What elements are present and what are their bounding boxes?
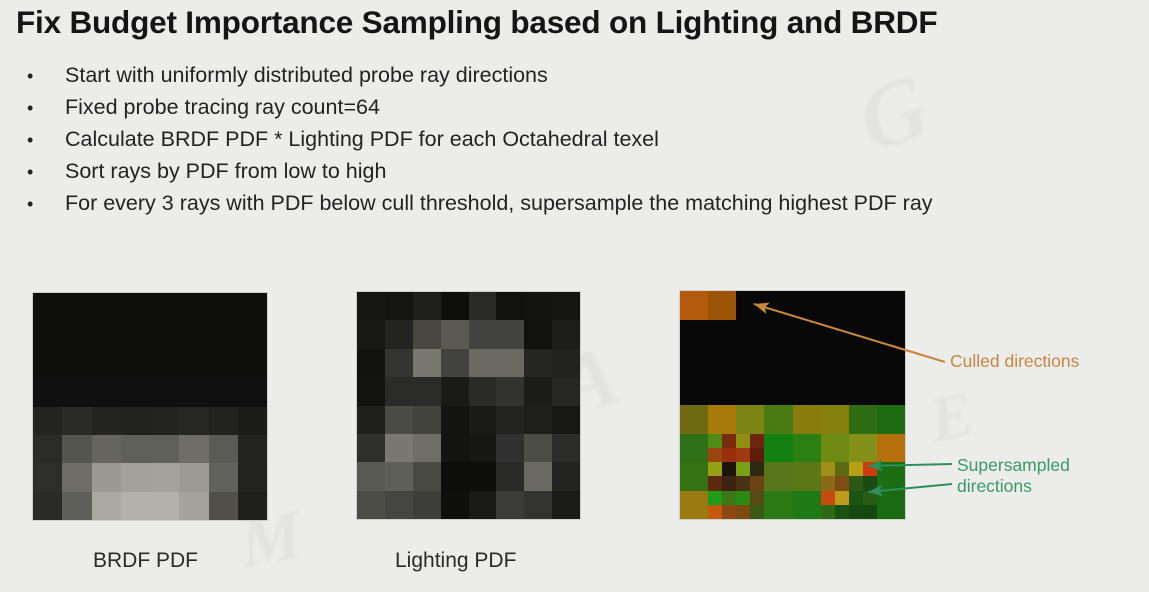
combined-subtexel bbox=[722, 462, 736, 476]
brdf-texel bbox=[92, 293, 121, 321]
lighting-texel bbox=[524, 377, 552, 405]
combined-subtexel bbox=[736, 462, 750, 476]
combined-subtexel bbox=[708, 476, 722, 490]
combined-subtexel bbox=[708, 462, 722, 476]
lighting-texel bbox=[441, 491, 469, 519]
brdf-texel bbox=[179, 293, 208, 321]
brdf-texel bbox=[62, 350, 91, 378]
brdf-texel bbox=[209, 492, 238, 520]
combined-texel-empty bbox=[764, 320, 792, 349]
brdf-texel bbox=[121, 293, 150, 321]
brdf-texel bbox=[179, 321, 208, 349]
combined-texel bbox=[821, 434, 849, 463]
combined-texel-empty bbox=[764, 348, 792, 377]
lighting-texel bbox=[413, 377, 441, 405]
combined-texel bbox=[764, 491, 792, 520]
lighting-texel bbox=[413, 462, 441, 490]
combined-subtexel bbox=[821, 505, 835, 519]
lighting-texel bbox=[469, 491, 497, 519]
lighting-texel bbox=[441, 377, 469, 405]
combined-texel-empty bbox=[877, 320, 905, 349]
lighting-texel bbox=[496, 320, 524, 348]
brdf-texel bbox=[121, 350, 150, 378]
combined-texel-supersampled bbox=[849, 462, 877, 491]
lighting-texel bbox=[357, 406, 385, 434]
combined-texel bbox=[793, 491, 821, 520]
lighting-texel bbox=[413, 292, 441, 320]
combined-subtexel bbox=[708, 448, 722, 462]
lighting-texel bbox=[441, 292, 469, 320]
combined-subtexel bbox=[750, 505, 764, 519]
brdf-texel bbox=[238, 435, 267, 463]
brdf-texel bbox=[150, 321, 179, 349]
brdf-pdf-image bbox=[33, 293, 267, 520]
bullet-item: •Fixed probe tracing ray count=64 bbox=[22, 95, 1142, 127]
lighting-texel bbox=[413, 434, 441, 462]
combined-subtexel bbox=[722, 476, 736, 490]
lighting-texel bbox=[413, 491, 441, 519]
brdf-texel bbox=[150, 407, 179, 435]
brdf-texel bbox=[150, 463, 179, 491]
combined-subtexel bbox=[863, 505, 877, 519]
brdf-texel bbox=[33, 435, 62, 463]
brdf-texel bbox=[92, 492, 121, 520]
bullet-item: •Calculate BRDF PDF * Lighting PDF for e… bbox=[22, 127, 1142, 159]
lighting-texel bbox=[469, 377, 497, 405]
lighting-pdf-caption: Lighting PDF bbox=[395, 549, 516, 573]
combined-subtexel bbox=[863, 462, 877, 476]
brdf-texel bbox=[179, 492, 208, 520]
combined-texel-empty bbox=[764, 291, 792, 320]
combined-subtexel bbox=[722, 448, 736, 462]
combined-subtexel bbox=[736, 505, 750, 519]
combined-texel-empty bbox=[736, 348, 764, 377]
combined-texel-empty bbox=[708, 320, 736, 349]
bullet-marker-icon: • bbox=[22, 195, 65, 213]
brdf-texel bbox=[121, 435, 150, 463]
brdf-texel bbox=[33, 492, 62, 520]
combined-subtexel bbox=[708, 491, 722, 505]
brdf-texel bbox=[121, 463, 150, 491]
brdf-texel bbox=[238, 321, 267, 349]
lighting-texel bbox=[357, 491, 385, 519]
combined-subtexel bbox=[821, 491, 835, 505]
lighting-texel bbox=[385, 292, 413, 320]
combined-texel bbox=[793, 434, 821, 463]
combined-texel-empty bbox=[708, 377, 736, 406]
lighting-texel bbox=[496, 377, 524, 405]
combined-texel-empty bbox=[821, 291, 849, 320]
brdf-texel bbox=[238, 350, 267, 378]
brdf-texel bbox=[92, 463, 121, 491]
slide-title: Fix Budget Importance Sampling based on … bbox=[16, 4, 1136, 41]
combined-subtexel bbox=[750, 491, 764, 505]
lighting-texel bbox=[385, 377, 413, 405]
combined-subtexel bbox=[722, 491, 736, 505]
brdf-texel bbox=[209, 435, 238, 463]
combined-texel bbox=[877, 405, 905, 434]
lighting-texel bbox=[469, 320, 497, 348]
brdf-texel bbox=[209, 321, 238, 349]
brdf-texel-grid bbox=[33, 293, 267, 520]
combined-texel-empty bbox=[736, 377, 764, 406]
brdf-texel bbox=[33, 350, 62, 378]
combined-texel bbox=[680, 491, 708, 520]
combined-subtexel bbox=[863, 476, 877, 490]
supersampled-directions-label: Supersampled directions bbox=[957, 455, 1070, 497]
combined-subtexel bbox=[750, 434, 764, 448]
brdf-texel bbox=[92, 407, 121, 435]
combined-subtexel bbox=[849, 476, 863, 490]
lighting-texel bbox=[496, 491, 524, 519]
brdf-texel bbox=[62, 407, 91, 435]
combined-texel-empty bbox=[877, 348, 905, 377]
lighting-texel bbox=[385, 349, 413, 377]
combined-texel bbox=[793, 462, 821, 491]
brdf-texel bbox=[33, 321, 62, 349]
combined-subtexel bbox=[708, 505, 722, 519]
bullet-marker-icon: • bbox=[22, 67, 65, 85]
lighting-texel bbox=[552, 462, 580, 490]
lighting-texel bbox=[524, 320, 552, 348]
brdf-texel bbox=[62, 321, 91, 349]
combined-texel bbox=[877, 491, 905, 520]
lighting-pdf-image bbox=[357, 292, 580, 519]
brdf-texel bbox=[209, 463, 238, 491]
lighting-texel bbox=[552, 292, 580, 320]
bullet-text: Calculate BRDF PDF * Lighting PDF for ea… bbox=[65, 127, 659, 152]
combined-subtexel bbox=[736, 448, 750, 462]
combined-subtexel bbox=[750, 448, 764, 462]
combined-subtexel bbox=[736, 434, 750, 448]
brdf-texel bbox=[179, 463, 208, 491]
combined-texel bbox=[793, 405, 821, 434]
lighting-texel bbox=[469, 434, 497, 462]
lighting-texel bbox=[496, 406, 524, 434]
brdf-texel bbox=[62, 492, 91, 520]
lighting-texel bbox=[552, 406, 580, 434]
bullet-text: Sort rays by PDF from low to high bbox=[65, 159, 386, 184]
combined-subtexel bbox=[736, 476, 750, 490]
lighting-texel bbox=[441, 434, 469, 462]
combined-texel-grid bbox=[680, 291, 905, 519]
bullet-text: Start with uniformly distributed probe r… bbox=[65, 63, 548, 88]
lighting-texel bbox=[469, 349, 497, 377]
combined-subtexel bbox=[750, 476, 764, 490]
lighting-texel bbox=[496, 434, 524, 462]
combined-texel-empty bbox=[680, 377, 708, 406]
watermark-decoration: E bbox=[923, 376, 980, 457]
combined-subtexel bbox=[722, 505, 736, 519]
brdf-texel bbox=[33, 378, 62, 406]
combined-texel bbox=[680, 462, 708, 491]
combined-texel-empty bbox=[736, 291, 764, 320]
supersampled-label-line2: directions bbox=[957, 476, 1070, 497]
combined-texel-supersampled bbox=[736, 491, 764, 520]
brdf-texel bbox=[209, 378, 238, 406]
brdf-texel bbox=[179, 435, 208, 463]
combined-texel-supersampled bbox=[736, 434, 764, 463]
brdf-texel bbox=[209, 407, 238, 435]
bullet-text: For every 3 rays with PDF below cull thr… bbox=[65, 191, 933, 216]
combined-texel-empty bbox=[849, 320, 877, 349]
lighting-texel-grid bbox=[357, 292, 580, 519]
combined-texel-supersampled bbox=[708, 434, 736, 463]
combined-texel-supersampled bbox=[821, 491, 849, 520]
brdf-texel bbox=[179, 350, 208, 378]
brdf-texel bbox=[62, 435, 91, 463]
lighting-texel bbox=[552, 349, 580, 377]
lighting-texel bbox=[524, 292, 552, 320]
lighting-texel bbox=[385, 320, 413, 348]
lighting-texel bbox=[552, 377, 580, 405]
combined-texel bbox=[680, 291, 708, 320]
combined-texel-empty bbox=[877, 291, 905, 320]
combined-texel bbox=[849, 434, 877, 463]
lighting-texel bbox=[441, 406, 469, 434]
lighting-texel bbox=[552, 434, 580, 462]
brdf-texel bbox=[121, 378, 150, 406]
brdf-texel bbox=[121, 492, 150, 520]
brdf-texel bbox=[150, 350, 179, 378]
combined-texel-empty bbox=[764, 377, 792, 406]
brdf-texel bbox=[150, 435, 179, 463]
combined-subtexel bbox=[708, 434, 722, 448]
brdf-texel bbox=[238, 407, 267, 435]
brdf-texel bbox=[179, 378, 208, 406]
combined-texel-empty bbox=[849, 348, 877, 377]
lighting-texel bbox=[385, 434, 413, 462]
lighting-texel bbox=[524, 434, 552, 462]
lighting-texel bbox=[441, 462, 469, 490]
lighting-texel bbox=[385, 491, 413, 519]
lighting-texel bbox=[357, 434, 385, 462]
lighting-texel bbox=[524, 491, 552, 519]
combined-texel-supersampled bbox=[821, 462, 849, 491]
combined-subtexel bbox=[849, 505, 863, 519]
lighting-texel bbox=[413, 320, 441, 348]
combined-subtexel bbox=[835, 476, 849, 490]
brdf-texel bbox=[92, 350, 121, 378]
combined-texel bbox=[708, 405, 736, 434]
combined-texel-empty bbox=[821, 377, 849, 406]
bullet-text: Fixed probe tracing ray count=64 bbox=[65, 95, 380, 120]
bullet-marker-icon: • bbox=[22, 131, 65, 149]
brdf-texel bbox=[238, 378, 267, 406]
brdf-texel bbox=[150, 378, 179, 406]
combined-texel bbox=[764, 462, 792, 491]
lighting-texel bbox=[469, 406, 497, 434]
lighting-texel bbox=[496, 462, 524, 490]
combined-texel bbox=[849, 405, 877, 434]
brdf-texel bbox=[238, 463, 267, 491]
combined-subtexel bbox=[835, 491, 849, 505]
lighting-texel bbox=[357, 462, 385, 490]
brdf-texel bbox=[121, 321, 150, 349]
lighting-texel bbox=[524, 406, 552, 434]
brdf-texel bbox=[179, 407, 208, 435]
combined-subtexel bbox=[835, 462, 849, 476]
combined-subtexel bbox=[849, 462, 863, 476]
combined-texel-empty bbox=[708, 348, 736, 377]
lighting-texel bbox=[441, 320, 469, 348]
combined-texel bbox=[708, 291, 736, 320]
bullet-item: •Sort rays by PDF from low to high bbox=[22, 159, 1142, 191]
brdf-texel bbox=[121, 407, 150, 435]
combined-subtexel bbox=[722, 434, 736, 448]
brdf-texel bbox=[209, 293, 238, 321]
combined-texel-empty bbox=[849, 377, 877, 406]
lighting-texel bbox=[413, 349, 441, 377]
bullet-marker-icon: • bbox=[22, 99, 65, 117]
brdf-texel bbox=[33, 293, 62, 321]
brdf-texel bbox=[238, 293, 267, 321]
combined-texel-empty bbox=[849, 291, 877, 320]
lighting-texel bbox=[385, 406, 413, 434]
brdf-texel bbox=[238, 492, 267, 520]
bullet-item: •Start with uniformly distributed probe … bbox=[22, 63, 1142, 95]
lighting-texel bbox=[413, 406, 441, 434]
lighting-texel bbox=[524, 462, 552, 490]
combined-texel-empty bbox=[793, 291, 821, 320]
bullet-item: •For every 3 rays with PDF below cull th… bbox=[22, 191, 1142, 223]
lighting-texel bbox=[469, 462, 497, 490]
combined-pdf-image bbox=[680, 291, 905, 519]
slide-root: G A M E Fix Budget Importance Sampling b… bbox=[0, 0, 1149, 592]
lighting-texel bbox=[524, 349, 552, 377]
combined-texel bbox=[821, 405, 849, 434]
combined-texel bbox=[877, 462, 905, 491]
combined-texel-empty bbox=[793, 320, 821, 349]
brdf-texel bbox=[62, 378, 91, 406]
lighting-texel bbox=[357, 377, 385, 405]
combined-texel-supersampled bbox=[708, 462, 736, 491]
combined-texel-empty bbox=[793, 348, 821, 377]
combined-texel-empty bbox=[680, 320, 708, 349]
lighting-texel bbox=[357, 320, 385, 348]
lighting-texel bbox=[441, 349, 469, 377]
combined-subtexel bbox=[736, 491, 750, 505]
combined-texel bbox=[680, 405, 708, 434]
bullet-list: •Start with uniformly distributed probe … bbox=[22, 63, 1142, 223]
combined-texel-supersampled bbox=[849, 491, 877, 520]
combined-texel bbox=[877, 434, 905, 463]
brdf-texel bbox=[150, 492, 179, 520]
combined-texel-empty bbox=[877, 377, 905, 406]
lighting-texel bbox=[552, 320, 580, 348]
brdf-texel bbox=[33, 407, 62, 435]
brdf-texel bbox=[150, 293, 179, 321]
combined-texel-empty bbox=[736, 320, 764, 349]
combined-texel-empty bbox=[680, 348, 708, 377]
brdf-texel bbox=[62, 463, 91, 491]
lighting-texel bbox=[357, 292, 385, 320]
lighting-texel bbox=[496, 292, 524, 320]
lighting-texel bbox=[496, 349, 524, 377]
brdf-texel bbox=[92, 435, 121, 463]
brdf-texel bbox=[62, 293, 91, 321]
combined-subtexel bbox=[750, 462, 764, 476]
culled-directions-label: Culled directions bbox=[950, 351, 1079, 372]
lighting-texel bbox=[357, 349, 385, 377]
supersampled-label-line1: Supersampled bbox=[957, 455, 1070, 476]
combined-texel bbox=[764, 434, 792, 463]
combined-texel-supersampled bbox=[736, 462, 764, 491]
lighting-texel bbox=[552, 491, 580, 519]
lighting-texel bbox=[385, 462, 413, 490]
brdf-texel bbox=[33, 463, 62, 491]
brdf-texel bbox=[209, 350, 238, 378]
combined-subtexel bbox=[863, 491, 877, 505]
bullet-marker-icon: • bbox=[22, 163, 65, 181]
combined-subtexel bbox=[849, 491, 863, 505]
brdf-texel bbox=[92, 321, 121, 349]
combined-texel bbox=[736, 405, 764, 434]
brdf-pdf-caption: BRDF PDF bbox=[93, 549, 198, 573]
combined-texel-empty bbox=[821, 348, 849, 377]
combined-subtexel bbox=[821, 462, 835, 476]
combined-texel-empty bbox=[793, 377, 821, 406]
lighting-texel bbox=[469, 292, 497, 320]
combined-texel bbox=[764, 405, 792, 434]
combined-texel-empty bbox=[821, 320, 849, 349]
brdf-texel bbox=[92, 378, 121, 406]
combined-subtexel bbox=[821, 476, 835, 490]
combined-subtexel bbox=[835, 505, 849, 519]
combined-texel-supersampled bbox=[708, 491, 736, 520]
combined-texel bbox=[680, 434, 708, 463]
